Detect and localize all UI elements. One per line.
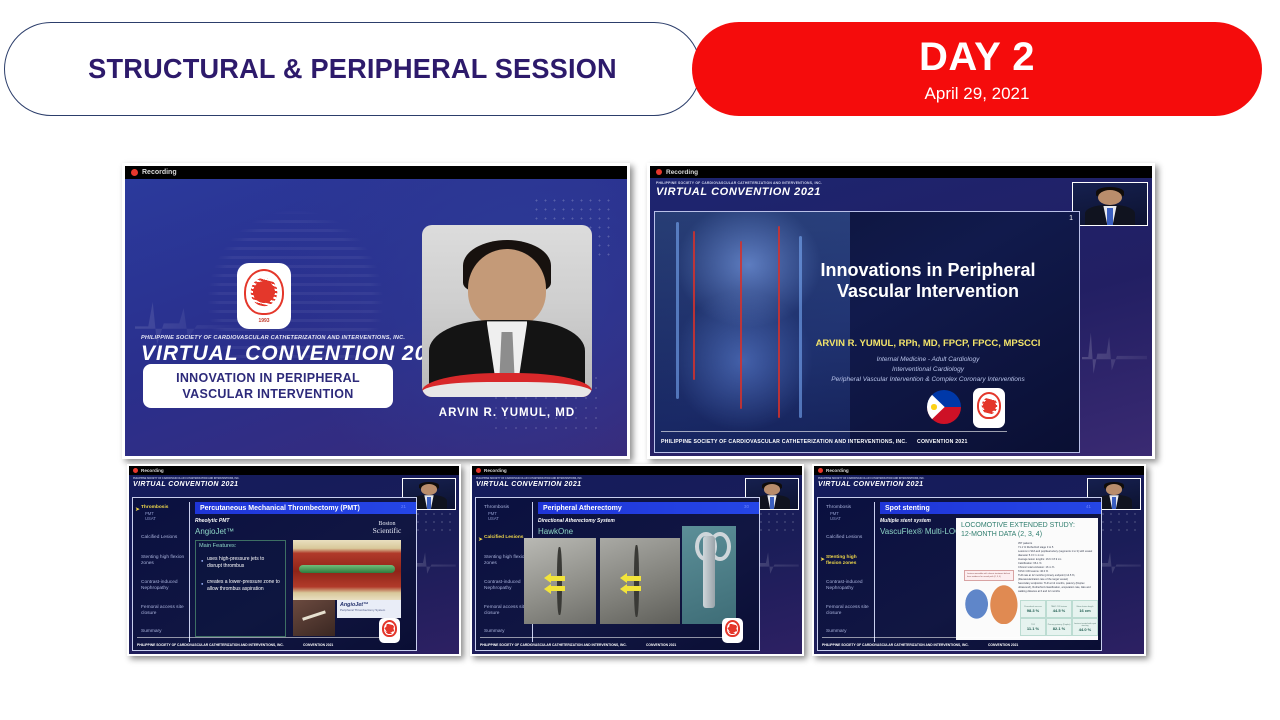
stat-value: 82.1 % xyxy=(1053,626,1065,631)
credential-line: Internal Medicine - Adult Cardiology xyxy=(775,355,1080,365)
sidebar-item-stenting-high-flexion-zones[interactable]: Stenting high flexion zones xyxy=(484,555,528,567)
sidebar-item-label: Thrombosis xyxy=(141,505,168,510)
technique-label: Directional Atherectomy System xyxy=(538,518,615,524)
topic-line-2: VASCULAR INTERVENTION xyxy=(182,387,353,401)
recording-bar: Recording xyxy=(125,166,627,179)
sidebar-item-stenting-high-flexion-zones[interactable]: Stenting high flexion zones xyxy=(826,555,870,567)
day-badge-pill: DAY 2 April 29, 2021 xyxy=(692,22,1262,116)
slide-card-presentation-title[interactable]: Recording PHILIPPINE SOCIETY OF CARDIOVA… xyxy=(647,163,1155,459)
recording-bar: Recording xyxy=(472,466,802,475)
brand-label: AngioJet™ xyxy=(195,527,234,536)
convention-title: VIRTUAL CONVENTION 2021 xyxy=(141,342,411,366)
sidebar-item-summary[interactable]: Summary xyxy=(141,629,162,635)
stat-value: 98.3 % xyxy=(1027,608,1039,613)
study-bullet-list: 357 patients 71.1 % Rutherford stage 3 t… xyxy=(1018,542,1096,594)
sidebar-item-thrombosis[interactable]: Thrombosis PMT USAT xyxy=(826,505,851,521)
slide-title-bar: Spot stenting xyxy=(880,502,1102,514)
sidebar-item-label: Thrombosis xyxy=(484,505,509,510)
brand-label: HawkOne xyxy=(538,527,573,536)
philippine-flag-icon xyxy=(927,390,961,424)
session-title-pill: STRUCTURAL & PERIPHERAL SESSION xyxy=(4,22,701,116)
recording-dot-icon xyxy=(476,468,481,473)
sidebar-active-arrow-icon: ➤ xyxy=(820,556,825,563)
slide-content-atherectomy: PHILIPPINE SOCIETY OF CARDIOVASCULAR CAT… xyxy=(472,475,802,654)
sidebar-item-label: Femoral access site closure xyxy=(826,605,869,616)
sidebar-item-summary[interactable]: Summary xyxy=(484,629,505,635)
slide-sidebar: Thrombosis PMT USAT ➤ Calcified Lesions … xyxy=(476,498,530,650)
recording-bar: Recording xyxy=(814,466,1144,475)
presentation-title-line-2: Vascular Intervention xyxy=(785,281,1071,302)
angiogram-image-pre xyxy=(524,538,596,624)
study-bullet: Lesions in SFA and popliteal artery (seg… xyxy=(1018,550,1096,558)
recording-bar: Recording xyxy=(129,466,459,475)
atherectomy-device-photo xyxy=(682,526,736,624)
slide-card-pmt[interactable]: Recording PHILIPPINE SOCIETY OF CARDIOVA… xyxy=(127,464,461,656)
angiogram-image-post xyxy=(600,538,680,624)
slide-content-presentation-title: PHILIPPINE SOCIETY OF CARDIOVASCULAR CAT… xyxy=(650,178,1152,456)
stat-value: 44.0 % xyxy=(1079,627,1091,632)
sidebar-divider xyxy=(874,502,875,642)
recording-label: Recording xyxy=(142,169,177,176)
slide-title-bar: Percutaneous Mechanical Thrombectomy (PM… xyxy=(195,502,417,514)
sidebar-divider xyxy=(189,502,190,642)
stat-tile: Lesions treated with spot stenting 44.0 … xyxy=(1072,618,1098,636)
speaker-face xyxy=(468,249,546,328)
sidebar-item-label: Contrast-induced Nephropathy xyxy=(484,580,521,591)
sidebar-item-contrast-induced-nephropathy[interactable]: Contrast-induced Nephropathy xyxy=(826,580,870,592)
sidebar-item-label: Thrombosis xyxy=(826,505,851,510)
recording-label: Recording xyxy=(826,468,849,473)
boston-scientific-logo: Boston Scientific xyxy=(359,521,415,535)
slide-card-atherectomy[interactable]: Recording PHILIPPINE SOCIETY OF CARDIOVA… xyxy=(470,464,804,656)
recording-label: Recording xyxy=(141,468,164,473)
sidebar-item-contrast-induced-nephropathy[interactable]: Contrast-induced Nephropathy xyxy=(484,580,528,592)
presentation-title: Innovations in Peripheral Vascular Inter… xyxy=(785,260,1071,301)
image-caption: AngioJet™ xyxy=(337,600,401,608)
sidebar-item-label: Stenting high flexion zones xyxy=(141,555,184,566)
feature-bullet-icon: ● xyxy=(201,558,203,563)
sidebar-active-arrow-icon: ➤ xyxy=(478,536,483,543)
slide-content-spot-stenting: PHILIPPINE SOCIETY OF CARDIOVASCULAR CAT… xyxy=(814,475,1144,654)
stat-tile: Mean lesion length 16 cm xyxy=(1072,600,1098,618)
slide-title: Peripheral Atherectomy xyxy=(543,505,622,512)
stat-tile: Procedural success 98.3 % xyxy=(1020,600,1046,618)
recording-dot-icon xyxy=(133,468,138,473)
slide-number: 41 xyxy=(1086,504,1091,509)
psc-logo-icon: 1993 xyxy=(237,263,291,329)
presenter-video-tile[interactable] xyxy=(1072,182,1148,226)
speaker-photo xyxy=(422,225,592,397)
sidebar-item-calcified-lesions[interactable]: Calcified Lesions xyxy=(141,535,187,541)
psc-logo-icon xyxy=(973,388,1005,428)
device-shaft xyxy=(703,536,716,609)
sidebar-item-calcified-lesions[interactable]: Calcified Lesions xyxy=(826,535,872,541)
sidebar-item-label: Contrast-induced Nephropathy xyxy=(826,580,863,591)
psc-logo-icon xyxy=(722,618,743,643)
slide-footer-right: CONVENTION 2021 xyxy=(646,643,676,647)
psc-logo-icon xyxy=(379,618,400,643)
recording-dot-icon xyxy=(131,169,138,176)
credential-line: Interventional Cardiology xyxy=(775,365,1080,375)
recording-label: Recording xyxy=(484,468,507,473)
slide-footer-left: PHILIPPINE SOCIETY OF CARDIOVASCULAR CAT… xyxy=(661,439,907,445)
sidebar-item-femoral-access-site-closure[interactable]: Femoral access site closure xyxy=(826,605,870,617)
sidebar-item-label: Femoral access site closure xyxy=(141,605,184,616)
vendor-logo-line-2: Scientific xyxy=(359,526,415,535)
header-banner: STRUCTURAL & PERIPHERAL SESSION DAY 2 Ap… xyxy=(0,0,1280,140)
study-panel: LOCOMOTIVE EXTENDED STUDY: 12-MONTH DATA… xyxy=(956,518,1098,640)
sidebar-item-label: Summary xyxy=(141,629,162,634)
slide-footer-left: PHILIPPINE SOCIETY OF CARDIOVASCULAR CAT… xyxy=(137,643,284,647)
day-badge-date: April 29, 2021 xyxy=(925,84,1030,104)
lesion-arrow-icon xyxy=(627,576,641,581)
study-bullet: Secondary endpoints: TLR at 12 months, p… xyxy=(1018,582,1096,594)
photo-white-swoosh xyxy=(422,382,592,397)
sidebar-item-thrombosis[interactable]: Thrombosis PMT USAT xyxy=(141,505,168,521)
slide-footer-left: PHILIPPINE SOCIETY OF CARDIOVASCULAR CAT… xyxy=(822,643,969,647)
sidebar-item-femoral-access-site-closure[interactable]: Femoral access site closure xyxy=(484,605,528,617)
image-caption-sub: Peripheral Thrombectomy System xyxy=(337,608,401,612)
recording-dot-icon xyxy=(818,468,823,473)
stat-tile: Primary patency (Duplex) 82.1 % xyxy=(1046,618,1072,636)
study-bullet: TLR rate at 12 months (primary endpoint)… xyxy=(1018,574,1096,582)
sidebar-item-femoral-access-site-closure[interactable]: Femoral access site closure xyxy=(141,605,185,617)
credential-line: Peripheral Vascular Intervention & Compl… xyxy=(775,375,1080,385)
feature-item: uses high-pressure jets to disrupt throm… xyxy=(207,556,279,569)
slide-number: 30 xyxy=(744,504,749,509)
slide-page-number: 1 xyxy=(1069,215,1073,222)
slide-footer-right: CONVENTION 2021 xyxy=(303,643,333,647)
psc-logo-year: 1993 xyxy=(237,318,291,324)
technique-label: Rheolytic PMT xyxy=(195,518,229,524)
sidebar-active-arrow-icon: ➤ xyxy=(135,506,140,513)
brand-label: VascuFlex® Multi-LOC xyxy=(880,527,961,536)
sidebar-item-label: Stenting high flexion zones xyxy=(484,555,527,566)
sidebar-subitem-usat[interactable]: USAT xyxy=(141,516,168,521)
stent-illustration xyxy=(958,584,1020,624)
feature-bullet-icon: ● xyxy=(201,581,203,586)
slide-card-spot-stenting[interactable]: Recording PHILIPPINE SOCIETY OF CARDIOVA… xyxy=(812,464,1146,656)
topic-line-1: INNOVATION IN PERIPHERAL xyxy=(176,371,360,385)
session-title-label: STRUCTURAL & PERIPHERAL SESSION xyxy=(88,53,617,85)
presentation-collage: STRUCTURAL & PERIPHERAL SESSION DAY 2 Ap… xyxy=(0,0,1280,720)
sidebar-item-label: Contrast-induced Nephropathy xyxy=(141,580,178,591)
slide-frame: Thrombosis PMT USAT Calcified Lesions ➤ … xyxy=(817,497,1102,651)
sidebar-item-label: Femoral access site closure xyxy=(484,605,527,616)
slide-frame: Thrombosis PMT USAT ➤ Calcified Lesions … xyxy=(475,497,760,651)
slide-sidebar: Thrombosis PMT USAT Calcified Lesions ➤ … xyxy=(818,498,872,650)
slide-footer-right: CONVENTION 2021 xyxy=(988,643,1018,647)
presentation-title-line-1: Innovations in Peripheral xyxy=(785,260,1071,281)
ecg-waveform-icon xyxy=(1082,323,1147,379)
stat-tile: TASC C/D lesions 44.5 % xyxy=(1046,600,1072,618)
sidebar-item-label: Summary xyxy=(826,629,847,634)
recording-label: Recording xyxy=(666,169,698,176)
recording-bar: Recording xyxy=(650,166,1152,178)
study-title: LOCOMOTIVE EXTENDED STUDY: 12-MONTH DATA… xyxy=(961,522,1093,540)
sidebar-item-label: Calcified Lesions xyxy=(826,535,862,540)
slide-title: Percutaneous Mechanical Thrombectomy (PM… xyxy=(200,505,360,512)
vascular-anatomy-illustration xyxy=(655,212,850,452)
topic-title-box: INNOVATION IN PERIPHERAL VASCULAR INTERV… xyxy=(143,364,393,408)
slide-frame: 1 Innovations in Peripheral Vascular Int… xyxy=(654,211,1080,453)
sidebar-item-label: Summary xyxy=(484,629,505,634)
stat-value: 44.5 % xyxy=(1053,608,1065,613)
slide-footer-right: CONVENTION 2021 xyxy=(917,439,968,445)
lesion-arrow-icon xyxy=(551,576,565,581)
lesion-arrow-icon xyxy=(627,586,641,591)
stat-tile: TLR 11.1 % xyxy=(1020,618,1046,636)
sidebar-item-label: Calcified Lesions xyxy=(141,535,177,540)
feature-item: creates a lower-pressure zone to allow t… xyxy=(207,579,281,592)
technique-label: Multiple stent system xyxy=(880,518,931,524)
lesion-arrow-icon xyxy=(551,586,565,591)
presentation-credentials: Internal Medicine - Adult Cardiology Int… xyxy=(775,355,1080,384)
stat-value: 16 cm xyxy=(1079,608,1090,613)
presenter-face xyxy=(1098,190,1122,205)
sidebar-item-label: Stenting high flexion zones xyxy=(826,555,857,566)
slide-frame: ➤ Thrombosis PMT USAT Calcified Lesions … xyxy=(132,497,417,651)
angiojet-caption-box: AngioJet™ Peripheral Thrombectomy System xyxy=(337,600,401,618)
slide-content-title: 1993 PHILIPPINE SOCIETY OF CARDIOVASCULA… xyxy=(125,179,627,456)
features-heading: Main Features: xyxy=(199,543,236,549)
slide-title-bar: Peripheral Atherectomy xyxy=(538,502,760,514)
slide-number: 21 xyxy=(401,504,406,509)
sidebar-item-thrombosis[interactable]: Thrombosis PMT USAT xyxy=(484,505,509,521)
sidebar-item-stenting-high-flexion-zones[interactable]: Stenting high flexion zones xyxy=(141,555,185,567)
day-badge-title: DAY 2 xyxy=(919,37,1035,77)
slide-title: Spot stenting xyxy=(885,505,930,512)
society-line: PHILIPPINE SOCIETY OF CARDIOVASCULAR CAT… xyxy=(141,335,411,341)
slide-sidebar: ➤ Thrombosis PMT USAT Calcified Lesions … xyxy=(133,498,187,650)
presenter-tie xyxy=(1107,208,1113,225)
study-title-line-1: LOCOMOTIVE EXTENDED STUDY: xyxy=(961,522,1093,531)
stat-value: 11.1 % xyxy=(1027,626,1039,631)
speaker-name: ARVIN R. YUMUL, MD xyxy=(422,407,592,419)
recording-dot-icon xyxy=(656,169,662,175)
sidebar-item-label: Calcified Lesions xyxy=(484,535,523,540)
sidebar-subitem-usat[interactable]: USAT xyxy=(826,516,851,521)
sidebar-subitem-usat[interactable]: USAT xyxy=(484,516,509,521)
study-note-box: Lesions amenable with chronic treatment … xyxy=(964,570,1014,581)
thrombus-illustration xyxy=(293,540,401,600)
procedure-photo xyxy=(293,600,335,636)
slide-content-pmt: PHILIPPINE SOCIETY OF CARDIOVASCULAR CAT… xyxy=(129,475,459,654)
slide-card-title[interactable]: Recording 1993 PHILIPPINE SOCIETY OF xyxy=(122,163,630,459)
sidebar-item-contrast-induced-nephropathy[interactable]: Contrast-induced Nephropathy xyxy=(141,580,185,592)
slide-footer-left: PHILIPPINE SOCIETY OF CARDIOVASCULAR CAT… xyxy=(480,643,627,647)
study-title-line-2: 12-MONTH DATA (2, 3, 4) xyxy=(961,531,1093,540)
presentation-author: ARVIN R. YUMUL, RPh, MD, FPCP, FPCC, MPS… xyxy=(785,338,1071,349)
sidebar-item-summary[interactable]: Summary xyxy=(826,629,847,635)
catheter-illustration xyxy=(299,565,394,573)
